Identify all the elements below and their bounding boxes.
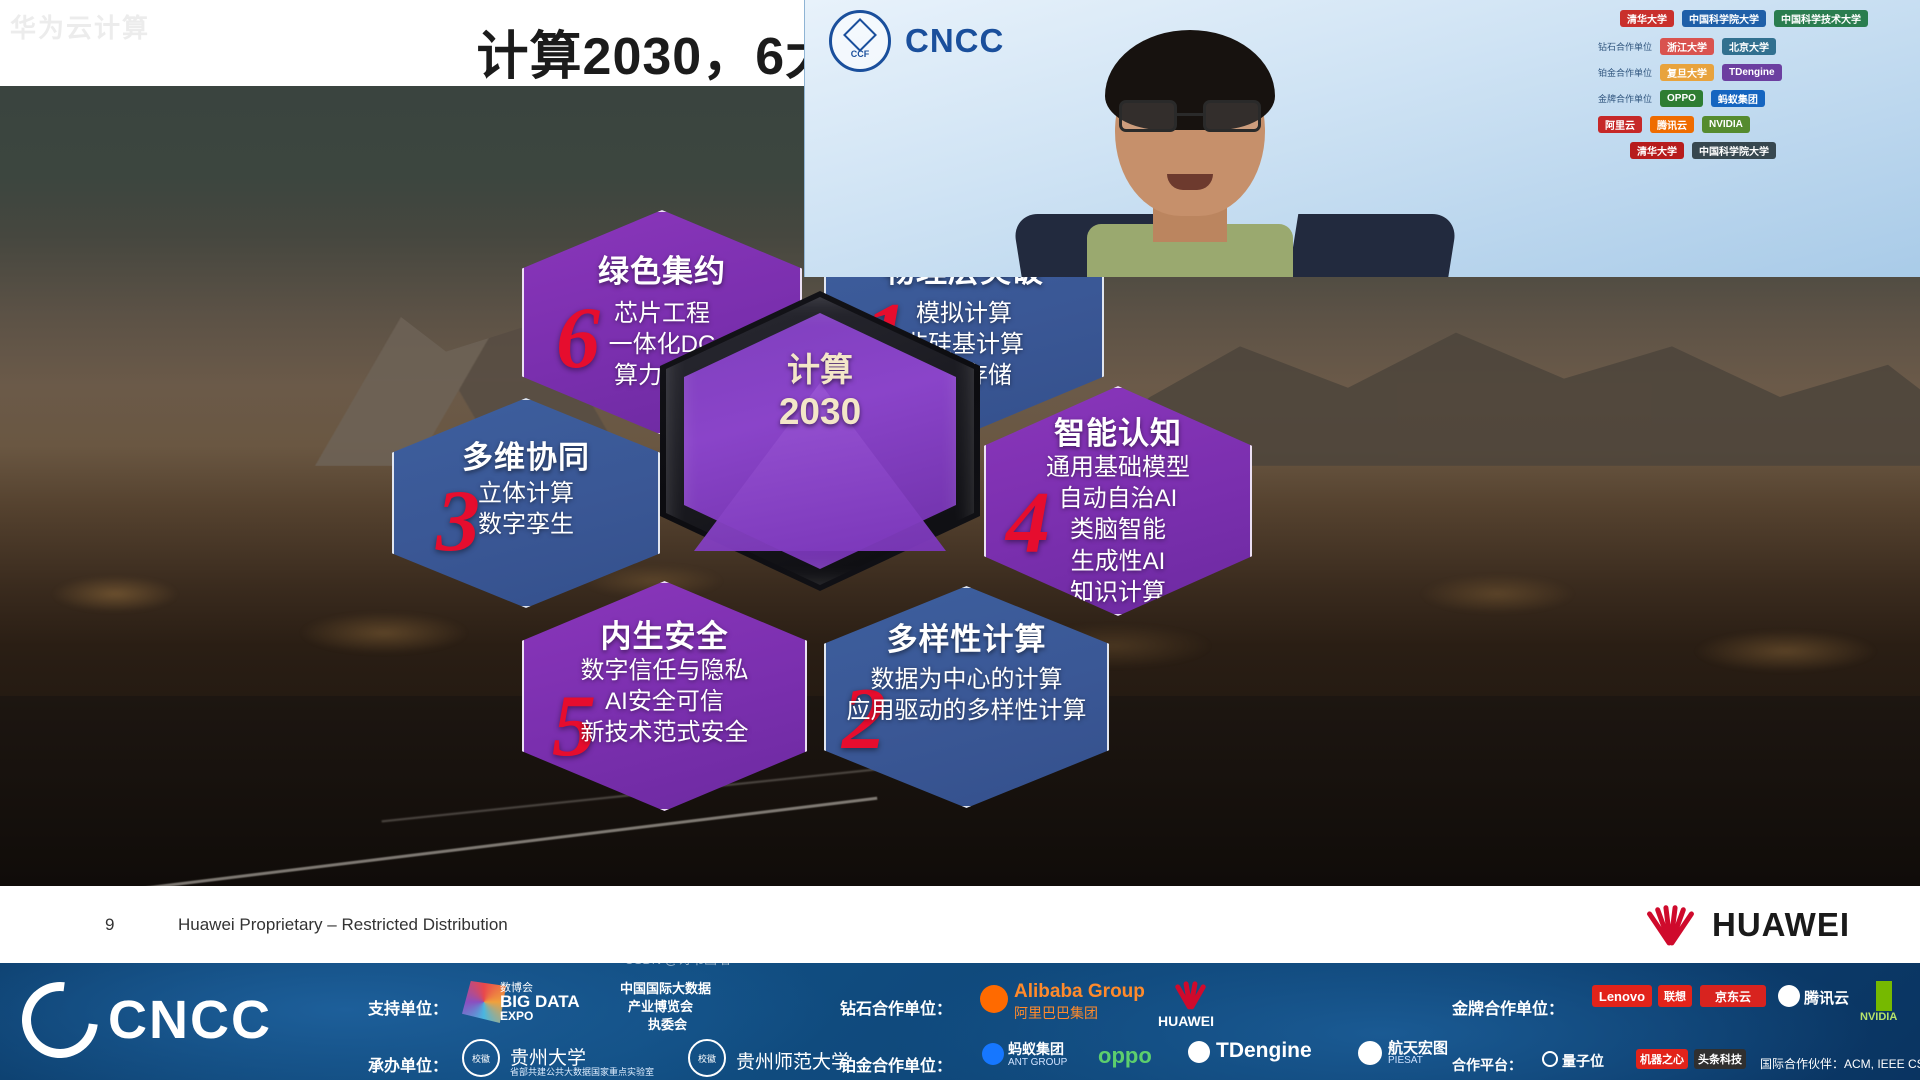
cam-chip: 浙江大学 — [1660, 38, 1714, 55]
cncc-circle-icon — [7, 967, 114, 1074]
page-number: 9 — [105, 915, 114, 935]
cam-chip: NVIDIA — [1702, 116, 1750, 133]
guizhou-normal-university-name: 贵州师范大学 — [736, 1047, 850, 1074]
hexagon-items: 立体计算 数字孪生 — [392, 478, 660, 540]
tencent-cloud-name: 腾讯云 — [1804, 987, 1849, 1008]
alibaba-name-cn: 阿里巴巴集团 — [1014, 1003, 1098, 1023]
hexagon-item: 立体计算 — [392, 478, 660, 509]
hexagon-item: 类脑智能 — [984, 514, 1252, 545]
ccf-seal-icon: CCF — [829, 10, 891, 72]
expo-committee-line3: 执委会 — [648, 1014, 687, 1033]
cam-chip: 中国科学技术大学 — [1774, 10, 1868, 27]
ant-group-name-cn: 蚂蚁集团 — [1008, 1039, 1064, 1059]
qbitai-name: 量子位 — [1562, 1051, 1604, 1071]
cncc-wordmark: CNCC — [108, 989, 272, 1051]
huawei-name-banner: HUAWEI — [1158, 1013, 1214, 1029]
glasses-lens-right — [1203, 100, 1261, 132]
slide-stage: 华为云计算 计算2030，6大技术特征 18个技术创新方 6 绿色集约 芯片工程… — [0, 0, 1920, 1080]
core-label-line1: 计算 — [660, 351, 980, 390]
jacket-right — [1284, 214, 1459, 277]
expo-committee-line2: 产业博览会 — [628, 996, 693, 1015]
cam-sponsor-label: 铂金合作单位 — [1598, 66, 1652, 79]
core-label: 计算 2030 — [660, 351, 980, 434]
glasses-bridge — [1177, 113, 1203, 116]
hexagon-items: 数字信任与隐私 AI安全可信 新技术范式安全 — [522, 655, 807, 749]
hexagon-title: 绿色集约 — [522, 246, 802, 291]
glasses-icon — [1119, 100, 1261, 132]
core-cube: 计算 2030 — [660, 291, 980, 591]
hexagon-item: 数字信任与隐私 — [522, 655, 807, 686]
piesat-icon — [1358, 1041, 1382, 1065]
expo-committee-line1: 中国国际大数据 — [620, 978, 711, 997]
watermark: CSDN @诗书画唱 — [624, 949, 730, 968]
cam-chip: 复旦大学 — [1660, 64, 1714, 81]
hexagon-items: 数据为中心的计算 应用驱动的多样性计算 — [824, 664, 1109, 726]
huawei-flower-icon-banner — [1170, 979, 1210, 1011]
cam-sponsor-row: 清华大学 中国科学院大学 — [1630, 142, 1776, 159]
cam-sponsor-row: 阿里云 腾讯云 NVIDIA — [1598, 116, 1750, 133]
cam-chip: OPPO — [1660, 90, 1703, 107]
cam-cncc-wordmark: CNCC — [905, 22, 1004, 60]
jdcloud-badge: 京东云 — [1700, 985, 1766, 1007]
cam-sponsor-row: 清华大学 中国科学院大学 中国科学技术大学 — [1620, 10, 1868, 27]
speaker-video-overlay[interactable]: CCF CNCC 清华大学 中国科学院大学 中国科学技术大学 钻石合作单位 浙江… — [804, 0, 1920, 277]
sponsor-label-organizer: 承办单位： — [368, 1052, 448, 1076]
cam-sponsor-strip: 清华大学 中国科学院大学 中国科学技术大学 钻石合作单位 浙江大学 北京大学 铂… — [1590, 6, 1910, 206]
cam-chip: 北京大学 — [1722, 38, 1776, 55]
toutiao-tech-badge: 头条科技 — [1694, 1049, 1746, 1069]
cam-chip: TDengine — [1722, 64, 1782, 81]
hexagon-item: AI安全可信 — [522, 686, 807, 717]
lenovo-badge: Lenovo — [1592, 985, 1652, 1007]
sponsor-label-gold: 金牌合作单位： — [1452, 995, 1564, 1019]
hexagon-title: 多维协同 — [392, 432, 660, 477]
hexagon-item: 应用驱动的多样性计算 — [824, 695, 1109, 726]
hexagon-item: 数字孪生 — [392, 509, 660, 540]
hexagon-item: 数据为中心的计算 — [824, 664, 1109, 695]
glasses-lens-left — [1119, 100, 1177, 132]
cam-chip: 中国科学院大学 — [1682, 10, 1766, 27]
cam-sponsor-row: 铂金合作单位 复旦大学 TDengine — [1598, 64, 1782, 81]
lenovo-badge-cn: 联想 — [1658, 985, 1692, 1007]
nvidia-icon — [1876, 981, 1892, 1011]
huawei-flower-icon — [1642, 903, 1698, 947]
nvidia-name: NVIDIA — [1860, 1011, 1897, 1023]
guizhou-normal-university-seal-icon: 校徽 — [688, 1039, 726, 1077]
cam-chip: 清华大学 — [1630, 142, 1684, 159]
tencent-cloud-icon — [1778, 985, 1800, 1007]
sponsor-label-support: 支持单位： — [368, 995, 448, 1019]
ant-group-name-en: ANT GROUP — [1008, 1057, 1067, 1068]
bigdata-expo-en2: EXPO — [500, 1009, 533, 1023]
piesat-name-en: PIESAT — [1388, 1055, 1423, 1066]
hexagon-item: 生成性AI — [984, 546, 1252, 577]
international-partners: 国际合作伙伴：ACM, IEEE CS — [1760, 1055, 1920, 1072]
cam-chip: 腾讯云 — [1650, 116, 1694, 133]
cam-chip: 清华大学 — [1620, 10, 1674, 27]
alibaba-icon — [980, 985, 1008, 1013]
alibaba-name-en: Alibaba Group — [1014, 981, 1145, 1003]
slide-footer: 9 Huawei Proprietary – Restricted Distri… — [0, 886, 1920, 963]
huawei-wordmark: HUAWEI — [1712, 906, 1850, 944]
core-label-line2: 2030 — [660, 390, 980, 434]
ant-group-icon — [982, 1043, 1004, 1065]
huawei-logo: HUAWEI — [1642, 903, 1850, 947]
speaker-figure — [995, 26, 1465, 277]
ccf-diamond-shape — [843, 18, 877, 52]
sponsor-label-diamond: 钻石合作单位： — [840, 995, 952, 1019]
cncc-sponsor-banner: CNCC 支持单位： 数博会 BIG DATA EXPO 中国国际大数据 产业博… — [0, 963, 1920, 1080]
hexagon-item: 新技术范式安全 — [522, 717, 807, 748]
cam-sponsor-label: 钻石合作单位 — [1598, 40, 1652, 53]
cam-chip: 阿里云 — [1598, 116, 1642, 133]
hexagon-item: 自动自治AI — [984, 483, 1252, 514]
cam-sponsor-row: 钻石合作单位 浙江大学 北京大学 — [1598, 38, 1776, 55]
sponsor-label-platform: 合作平台： — [1452, 1055, 1522, 1075]
hexagon-item: 通用基础模型 — [984, 452, 1252, 483]
jiqizhixin-badge: 机器之心 — [1636, 1049, 1688, 1069]
qbitai-icon — [1542, 1051, 1558, 1067]
cam-chip: 蚂蚁集团 — [1711, 90, 1765, 107]
sponsor-label-platinum: 铂金合作单位： — [840, 1052, 952, 1076]
tdengine-name: TDengine — [1216, 1039, 1312, 1063]
cam-sponsor-label: 金牌合作单位 — [1598, 92, 1652, 105]
oppo-name: oppo — [1098, 1043, 1152, 1069]
guizhou-university-seal-icon: 校徽 — [462, 1039, 500, 1077]
guizhou-university-lab: 省部共建公共大数据国家重点实验室 — [510, 1065, 654, 1078]
tdengine-icon — [1188, 1041, 1210, 1063]
cncc-logo: CNCC — [22, 975, 352, 1065]
cam-chip: 中国科学院大学 — [1692, 142, 1776, 159]
cam-sponsor-row: 金牌合作单位 OPPO 蚂蚁集团 — [1598, 90, 1765, 107]
confidentiality-note: Huawei Proprietary – Restricted Distribu… — [178, 915, 508, 935]
